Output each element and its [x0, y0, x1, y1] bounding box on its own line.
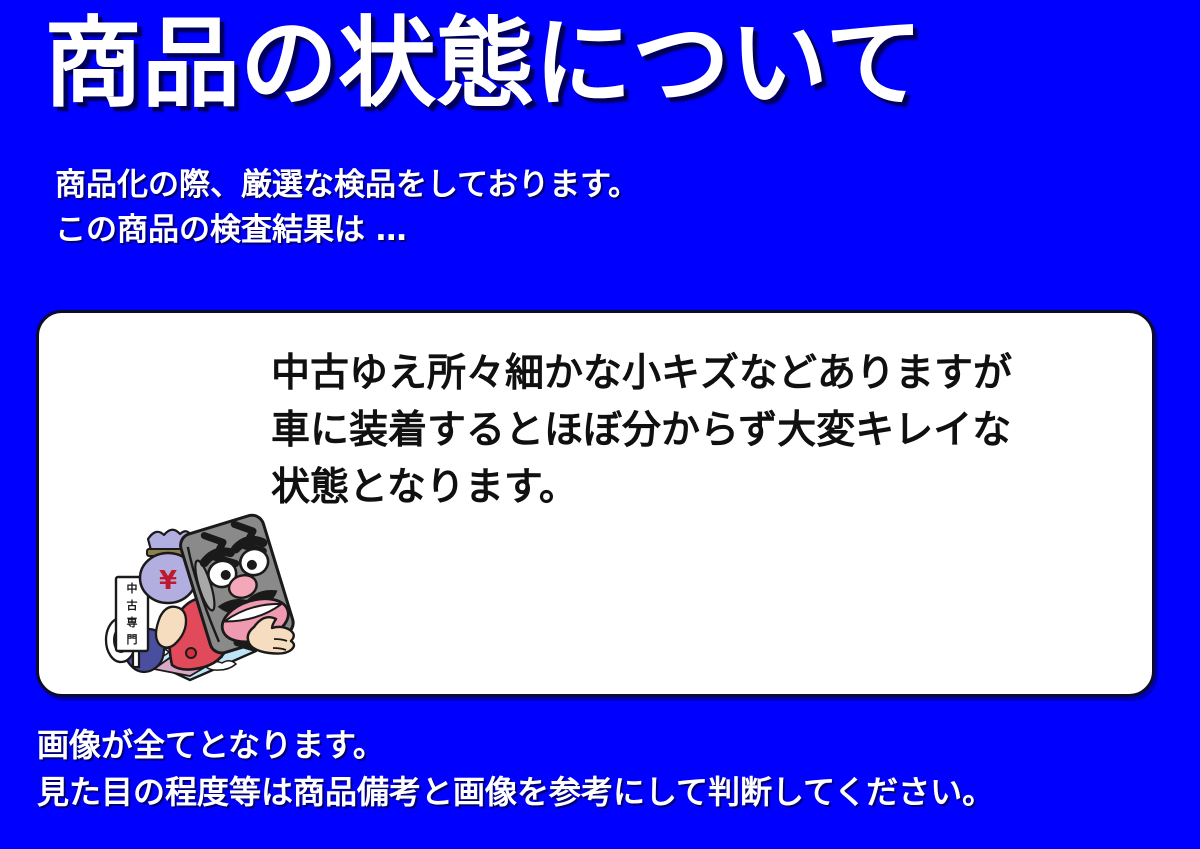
sign-char-3: 専: [127, 615, 138, 629]
condition-line-1: 中古ゆえ所々細かな小キズなどありますが: [271, 345, 1012, 402]
sign-char-2: 古: [127, 598, 138, 612]
condition-line-2: 車に装着するとほぼ分からず大変キレイな: [271, 402, 1012, 459]
intro-line-1: 商品化の際、厳選な検品をしております。: [55, 163, 639, 208]
footer-line-1: 画像が全てとなります。: [37, 722, 994, 769]
page-title: 商品の状態について: [44, 8, 923, 120]
condition-notice-slide: 商品の状態について 商品化の際、厳選な検品をしております。 この商品の検査結果は…: [0, 0, 1200, 849]
footer-text-block: 画像が全てとなります。 見た目の程度等は商品備考と画像を参考にして判断してくださ…: [37, 722, 994, 816]
sign-char-1: 中: [127, 581, 138, 595]
condition-card: 中古ゆえ所々細かな小キズなどありますが 車に装着するとほぼ分からず大変キレイな …: [36, 310, 1155, 697]
tire-character-mascot-icon: 中 古 専 門 ¥: [94, 505, 299, 690]
sign-char-4: 門: [127, 633, 138, 646]
condition-text-block: 中古ゆえ所々細かな小キズなどありますが 車に装着するとほぼ分からず大変キレイな …: [271, 345, 1012, 516]
intro-line-2: この商品の検査結果は …: [55, 208, 639, 253]
condition-line-3: 状態となります。: [271, 459, 1012, 516]
yen-symbol: ¥: [159, 566, 177, 596]
footer-line-2: 見た目の程度等は商品備考と画像を参考にして判断してください。: [37, 769, 994, 816]
intro-text-block: 商品化の際、厳選な検品をしております。 この商品の検査結果は …: [55, 163, 639, 253]
